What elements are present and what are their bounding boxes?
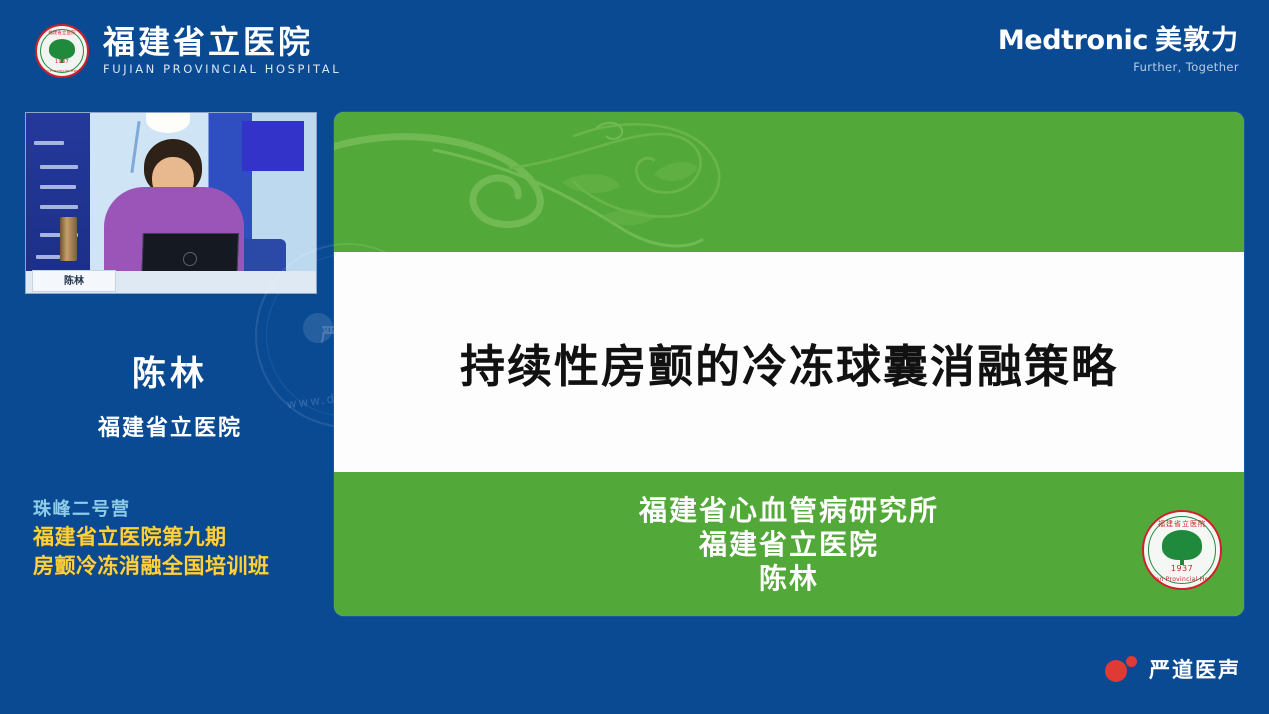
participant-row bbox=[34, 141, 64, 145]
slide-seal-arc-top-text: 福建省立医院 bbox=[1144, 519, 1220, 529]
participant-row bbox=[40, 185, 76, 189]
slide-footer-line-3: 陈林 bbox=[334, 562, 1244, 596]
top-header-bar: 福建省立医院 1937 Fujian Provincial Hospital 福… bbox=[0, 0, 1269, 105]
sponsor-name-row: Medtronic美敦力 bbox=[998, 27, 1239, 54]
video-desk-cup bbox=[60, 217, 77, 261]
sponsor-tagline: Further, Together bbox=[998, 60, 1239, 74]
hospital-seal-icon: 福建省立医院 1937 Fujian Provincial Hospital bbox=[35, 24, 89, 78]
participant-row bbox=[40, 205, 78, 209]
platform-brand-text: 严道医声 bbox=[1149, 654, 1241, 684]
slide-seal-year-text: 1937 bbox=[1144, 564, 1220, 573]
brand-dot-large bbox=[1105, 660, 1127, 682]
slide-footer-band: 福建省心血管病研究所 福建省立医院 陈林 福建省立医院 1937 Fujian … bbox=[334, 472, 1244, 616]
video-wall-board bbox=[242, 121, 304, 171]
sponsor-name-en: Medtronic bbox=[998, 25, 1148, 56]
slide-title: 持续性房颤的冷冻球囊消融策略 bbox=[460, 330, 1118, 395]
speaker-organization: 福建省立医院 bbox=[0, 410, 340, 442]
brand-dots-icon bbox=[1105, 656, 1139, 682]
watermark-dot-icon bbox=[303, 313, 333, 343]
platform-brand-logo: 严道医声 bbox=[1105, 654, 1241, 684]
seal-arc-bottom-text: Fujian Provincial Hospital bbox=[37, 69, 87, 73]
seal-arc-top-text: 福建省立医院 bbox=[37, 30, 87, 36]
slide-title-area: 持续性房颤的冷冻球囊消融策略 bbox=[334, 252, 1244, 472]
event-title-line-1: 福建省立医院第九期 bbox=[33, 523, 333, 552]
hospital-brand: 福建省立医院 1937 Fujian Provincial Hospital 福… bbox=[35, 24, 341, 78]
slide-hospital-seal-icon: 福建省立医院 1937 Fujian Provincial Hospital bbox=[1142, 510, 1222, 590]
hospital-name-en: FUJIAN PROVINCIAL HOSPITAL bbox=[103, 62, 341, 76]
seal-year-text: 1937 bbox=[37, 59, 87, 65]
participant-row bbox=[40, 165, 78, 169]
decorative-swirl-icon bbox=[334, 120, 844, 252]
participant-row bbox=[36, 255, 60, 259]
slide-footer-text-group: 福建省心血管病研究所 福建省立医院 陈林 bbox=[334, 494, 1244, 596]
sponsor-logo: Medtronic美敦力 Further, Together bbox=[998, 27, 1239, 74]
slide-footer-line-1: 福建省心血管病研究所 bbox=[334, 494, 1244, 528]
brand-dot-small bbox=[1126, 656, 1137, 667]
hospital-name-cn: 福建省立医院 bbox=[103, 26, 341, 60]
hospital-name-group: 福建省立医院 FUJIAN PROVINCIAL HOSPITAL bbox=[103, 26, 341, 77]
event-subtitle: 珠峰二号营 bbox=[33, 496, 333, 523]
slide-header-band bbox=[334, 112, 1244, 252]
speaker-name-placard: 陈林 bbox=[32, 270, 116, 292]
event-title-line-2: 房颤冷冻消融全国培训班 bbox=[33, 552, 333, 581]
video-participant-panel bbox=[26, 113, 90, 293]
sponsor-name-cn: 美敦力 bbox=[1155, 25, 1239, 56]
laptop-logo-icon bbox=[183, 252, 197, 266]
slide-footer-line-2: 福建省立医院 bbox=[334, 528, 1244, 562]
event-info-block: 珠峰二号营 福建省立医院第九期 房颤冷冻消融全国培训班 bbox=[33, 496, 333, 581]
slide-seal-arc-bottom-text: Fujian Provincial Hospital bbox=[1144, 576, 1220, 583]
speaker-name: 陈林 bbox=[0, 346, 340, 395]
presentation-slide[interactable]: 持续性房颤的冷冻球囊消融策略 福建省心血管病研究所 福建省立医院 陈林 福建省立… bbox=[334, 112, 1244, 616]
speaker-video-feed[interactable]: 陈林 bbox=[25, 112, 317, 294]
